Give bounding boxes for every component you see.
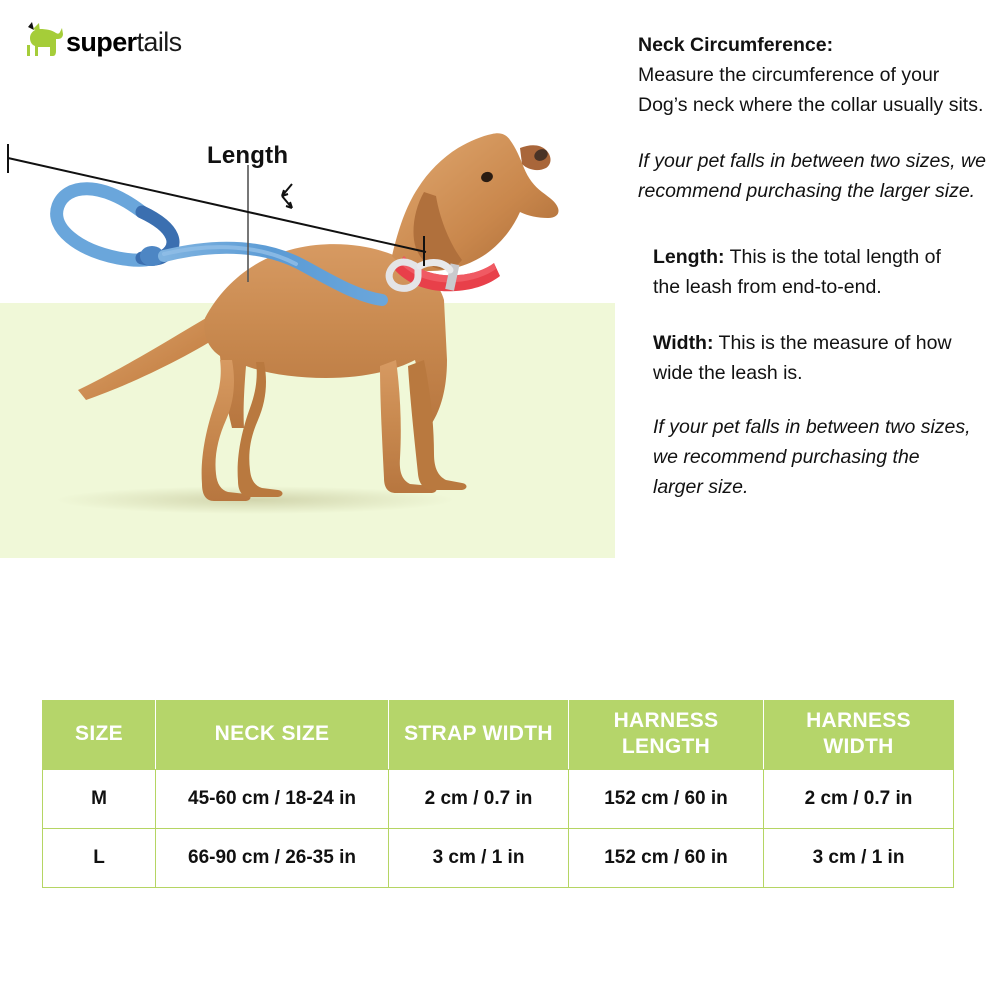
sizing-note-two: If your pet falls in between two sizes, … [653, 412, 973, 502]
spacer-two [638, 206, 988, 242]
table-header-row: SIZE NECK SIZE STRAP WIDTH HARNESS LENGT… [43, 701, 954, 770]
length-definition-block: Length: This is the total length of the … [653, 242, 973, 302]
product-illustration: Length [0, 60, 620, 510]
spacer-four [638, 388, 988, 412]
cell-harness-length: 152 cm / 60 in [569, 770, 764, 829]
neck-circumference-body: Measure the circumference of your Dog’s … [638, 64, 983, 116]
size-chart-table: SIZE NECK SIZE STRAP WIDTH HARNESS LENGT… [42, 700, 954, 888]
dog-silhouette-icon [18, 21, 64, 63]
brand-name-light: tails [137, 27, 182, 57]
length-callout-label: Length [207, 142, 288, 170]
cell-size: L [43, 829, 156, 888]
info-column: Neck Circumference: Measure the circumfe… [638, 30, 988, 502]
column-header-harness-width: HARNESS WIDTH [764, 701, 954, 770]
cell-neck-size: 66-90 cm / 26-35 in [156, 829, 389, 888]
column-header-size: SIZE [43, 701, 156, 770]
cell-strap-width: 2 cm / 0.7 in [389, 770, 569, 829]
cell-harness-width: 2 cm / 0.7 in [764, 770, 954, 829]
cell-size: M [43, 770, 156, 829]
neck-circumference-heading: Neck Circumference: [638, 34, 833, 56]
brand-name-bold: super [66, 27, 137, 57]
column-header-neck-size: NECK SIZE [156, 701, 389, 770]
spacer-three [638, 302, 988, 328]
cell-neck-size: 45-60 cm / 18-24 in [156, 770, 389, 829]
cell-strap-width: 3 cm / 1 in [389, 829, 569, 888]
brand-wordmark: supertails [66, 29, 182, 56]
cell-harness-length: 152 cm / 60 in [569, 829, 764, 888]
width-definition-block: Width: This is the measure of how wide t… [653, 328, 973, 388]
width-arrow-upper [282, 184, 292, 196]
spacer-one [638, 120, 988, 146]
brand-logo[interactable]: supertails [18, 20, 182, 64]
neck-circumference-block: Neck Circumference: Measure the circumfe… [638, 30, 988, 120]
cell-harness-width: 3 cm / 1 in [764, 829, 954, 888]
table-row: M 45-60 cm / 18-24 in 2 cm / 0.7 in 152 … [43, 770, 954, 829]
width-definition-heading: Width: [653, 332, 713, 354]
width-arrow-lower [282, 196, 292, 208]
dog-leash-diagram [0, 60, 620, 520]
table-row: L 66-90 cm / 26-35 in 3 cm / 1 in 152 cm… [43, 829, 954, 888]
length-definition-heading: Length: [653, 246, 724, 268]
leash-handle-loop-front [57, 189, 156, 260]
column-header-harness-length: HARNESS LENGTH [569, 701, 764, 770]
column-header-strap-width: STRAP WIDTH [389, 701, 569, 770]
sizing-note-one: If your pet falls in between two sizes, … [638, 146, 988, 206]
